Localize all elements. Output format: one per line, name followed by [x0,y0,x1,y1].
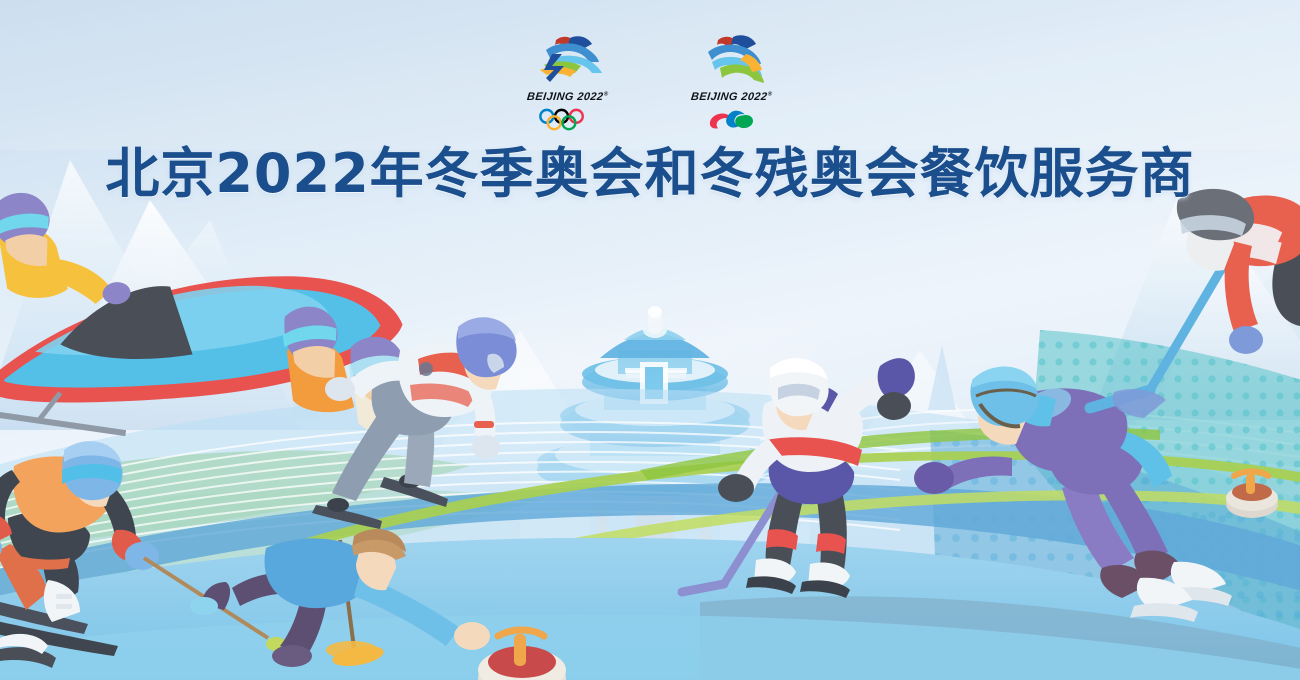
olympic-trademark: ® [604,91,609,97]
winter-dream-emblem-icon [526,32,610,88]
beijing-2022-olympic-logo: BEIJING 2022® [516,32,620,133]
beijing-2022-catering-banner: BEIJING 2022® [0,0,1300,680]
olympic-wordmark: BEIJING 2022® [527,91,609,103]
beijing-2022-paralympic-logo: BEIJING 2022® [680,32,784,133]
page-title: 北京2022年冬季奥会和冬残奥会餐饮服务商 [0,143,1300,205]
flying-high-emblem-icon [690,32,774,88]
olympic-rings-icon [533,107,603,133]
agitos-icon [697,107,767,133]
logo-row: BEIJING 2022® [0,32,1300,133]
paralympic-trademark: ® [768,91,773,97]
paralympic-wordmark: BEIJING 2022® [691,91,773,103]
